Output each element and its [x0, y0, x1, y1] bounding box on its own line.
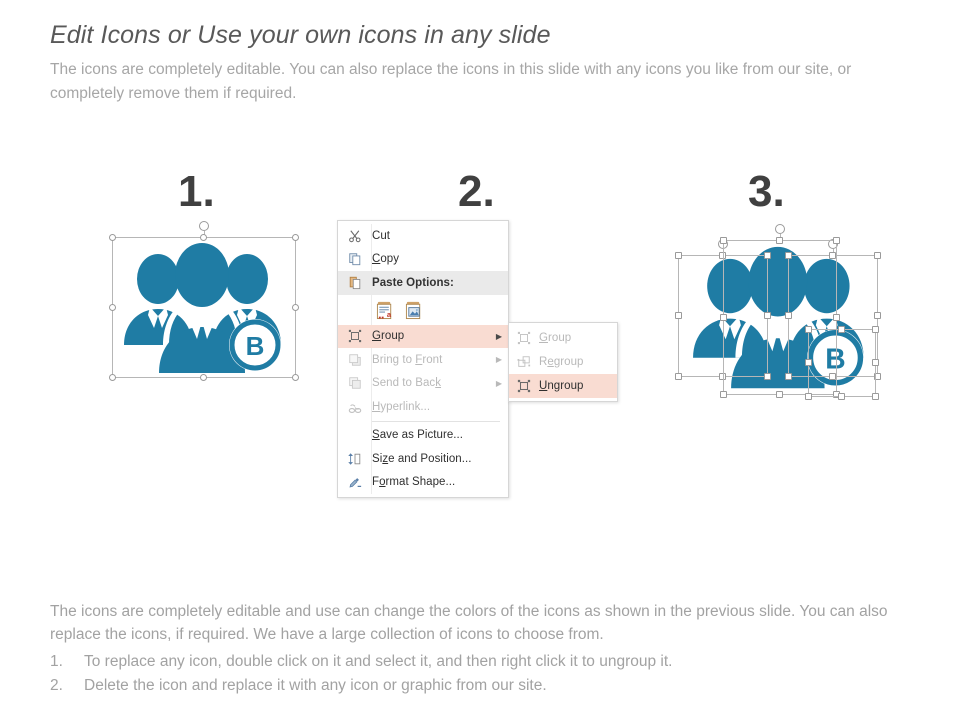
menu-item-label: Hyperlink... [372, 401, 490, 413]
menu-item-save-as-picture[interactable]: Save as Picture... [338, 424, 508, 448]
menu-item-label: Format Shape... [372, 476, 490, 488]
submenu-arrow-icon: ▶ [490, 379, 508, 388]
list-text: To replace any icon, double click on it … [84, 650, 672, 674]
group-submenu[interactable]: Group Regroup [508, 322, 618, 402]
menu-item-label: Group [372, 330, 490, 342]
submenu-item-group[interactable]: Group [509, 326, 617, 350]
step1-icon-container[interactable]: B [112, 237, 296, 378]
resize-handle-middle-right[interactable] [833, 314, 840, 321]
list-marker: 2. [50, 674, 74, 698]
menu-item-hyperlink[interactable]: Hyperlink... [338, 395, 508, 419]
group-shapes-icon [509, 326, 539, 350]
submenu-item-label: Ungroup [539, 380, 617, 392]
list-item: 1. To replace any icon, double click on … [50, 650, 940, 674]
bring-to-front-icon [338, 348, 372, 372]
resize-handle-top-right[interactable] [872, 326, 879, 333]
step-number-2: 2. [458, 170, 495, 214]
submenu-item-regroup[interactable]: Regroup [509, 350, 617, 374]
menu-item-bring-to-front[interactable]: Bring to Front ▶ [338, 348, 508, 372]
page-title: Edit Icons or Use your own icons in any … [50, 20, 930, 50]
menu-item-format-shape[interactable]: Format Shape... [338, 471, 508, 495]
ungroup-shapes-icon [509, 374, 539, 398]
step-number-1: 1. [178, 170, 215, 214]
slide-canvas: Edit Icons or Use your own icons in any … [0, 0, 960, 720]
group-shapes-icon [338, 325, 372, 349]
menu-item-send-to-back[interactable]: Send to Back ▶ [338, 372, 508, 396]
list-marker: 1. [50, 650, 74, 674]
menu-item-label: Paste Options: [372, 277, 508, 289]
regroup-shapes-icon [509, 350, 539, 374]
page-subtitle: The icons are completely editable. You c… [50, 58, 880, 106]
send-to-back-icon [338, 372, 372, 396]
resize-handle-middle-left[interactable] [720, 314, 727, 321]
resize-handle-top-left[interactable] [720, 237, 727, 244]
badge-b-circle: B [229, 319, 281, 371]
menu-item-label: Size and Position... [372, 453, 490, 465]
resize-handle-middle-right[interactable] [872, 359, 879, 366]
submenu-arrow-icon: ▶ [490, 332, 508, 341]
format-shape-icon [338, 471, 372, 495]
resize-handle-top-center[interactable] [838, 326, 845, 333]
context-menu[interactable]: Cut Copy Paste Options: [337, 220, 509, 498]
step3-icon-container[interactable]: B [680, 237, 880, 397]
list-text: Delete the icon and replace it with any … [84, 674, 547, 698]
submenu-item-ungroup[interactable]: Ungroup [509, 374, 617, 398]
resize-handle-top-right[interactable] [833, 237, 840, 244]
clipboard-icon [338, 271, 372, 295]
menu-item-label: Cut [372, 230, 490, 242]
business-team-icon[interactable]: B [112, 237, 296, 378]
paste-keep-text-only-icon[interactable]: a [376, 300, 395, 320]
menu-item-label: Bring to Front [372, 354, 490, 366]
menu-item-paste-options-header: Paste Options: [338, 271, 508, 295]
resize-handle-bottom-left[interactable] [675, 373, 682, 380]
menu-item-label: Copy [372, 253, 490, 265]
size-position-icon [338, 447, 372, 471]
list-item: 2. Delete the icon and replace it with a… [50, 674, 940, 698]
resize-handle-bottom-center[interactable] [838, 393, 845, 400]
resize-handle-top-left[interactable] [675, 252, 682, 259]
footer-instruction-list: 1. To replace any icon, double click on … [50, 650, 940, 698]
hyperlink-icon [338, 395, 372, 419]
resize-handle-middle-left[interactable] [675, 312, 682, 319]
rotation-handle[interactable] [199, 221, 209, 231]
paste-options-row[interactable]: a [338, 295, 508, 325]
submenu-item-label: Group [539, 332, 617, 344]
resize-handle-bottom-left[interactable] [720, 391, 727, 398]
svg-text:B: B [246, 331, 265, 361]
step-number-3: 3. [748, 170, 785, 214]
scissors-icon [338, 224, 372, 248]
resize-handle-bottom-center[interactable] [776, 391, 783, 398]
resize-handle-top-left[interactable] [805, 326, 812, 333]
resize-handle-middle-left[interactable] [805, 359, 812, 366]
footer-note: The icons are completely editable and us… [50, 600, 940, 698]
menu-item-group[interactable]: Group ▶ [338, 325, 508, 349]
submenu-arrow-icon: ▶ [490, 355, 508, 364]
header: Edit Icons or Use your own icons in any … [50, 20, 930, 106]
menu-separator [372, 421, 500, 422]
resize-handle-middle-right[interactable] [874, 312, 881, 319]
rotation-handle[interactable] [775, 224, 785, 234]
submenu-item-label: Regroup [539, 356, 617, 368]
menu-item-size-and-position[interactable]: Size and Position... [338, 447, 508, 471]
menu-item-copy[interactable]: Copy [338, 248, 508, 272]
no-icon [338, 424, 372, 448]
resize-handle-bottom-right[interactable] [872, 393, 879, 400]
menu-item-label: Save as Picture... [372, 429, 490, 441]
menu-item-label: Send to Back [372, 377, 490, 389]
paste-picture-icon[interactable] [405, 300, 424, 320]
resize-handle-bottom-left[interactable] [805, 393, 812, 400]
footer-paragraph: The icons are completely editable and us… [50, 600, 940, 647]
menu-item-cut[interactable]: Cut [338, 224, 508, 248]
resize-handle-top-right[interactable] [874, 252, 881, 259]
sub-selection-box-badge[interactable] [808, 329, 876, 397]
resize-handle-top-center[interactable] [776, 237, 783, 244]
copy-pages-icon [338, 248, 372, 272]
